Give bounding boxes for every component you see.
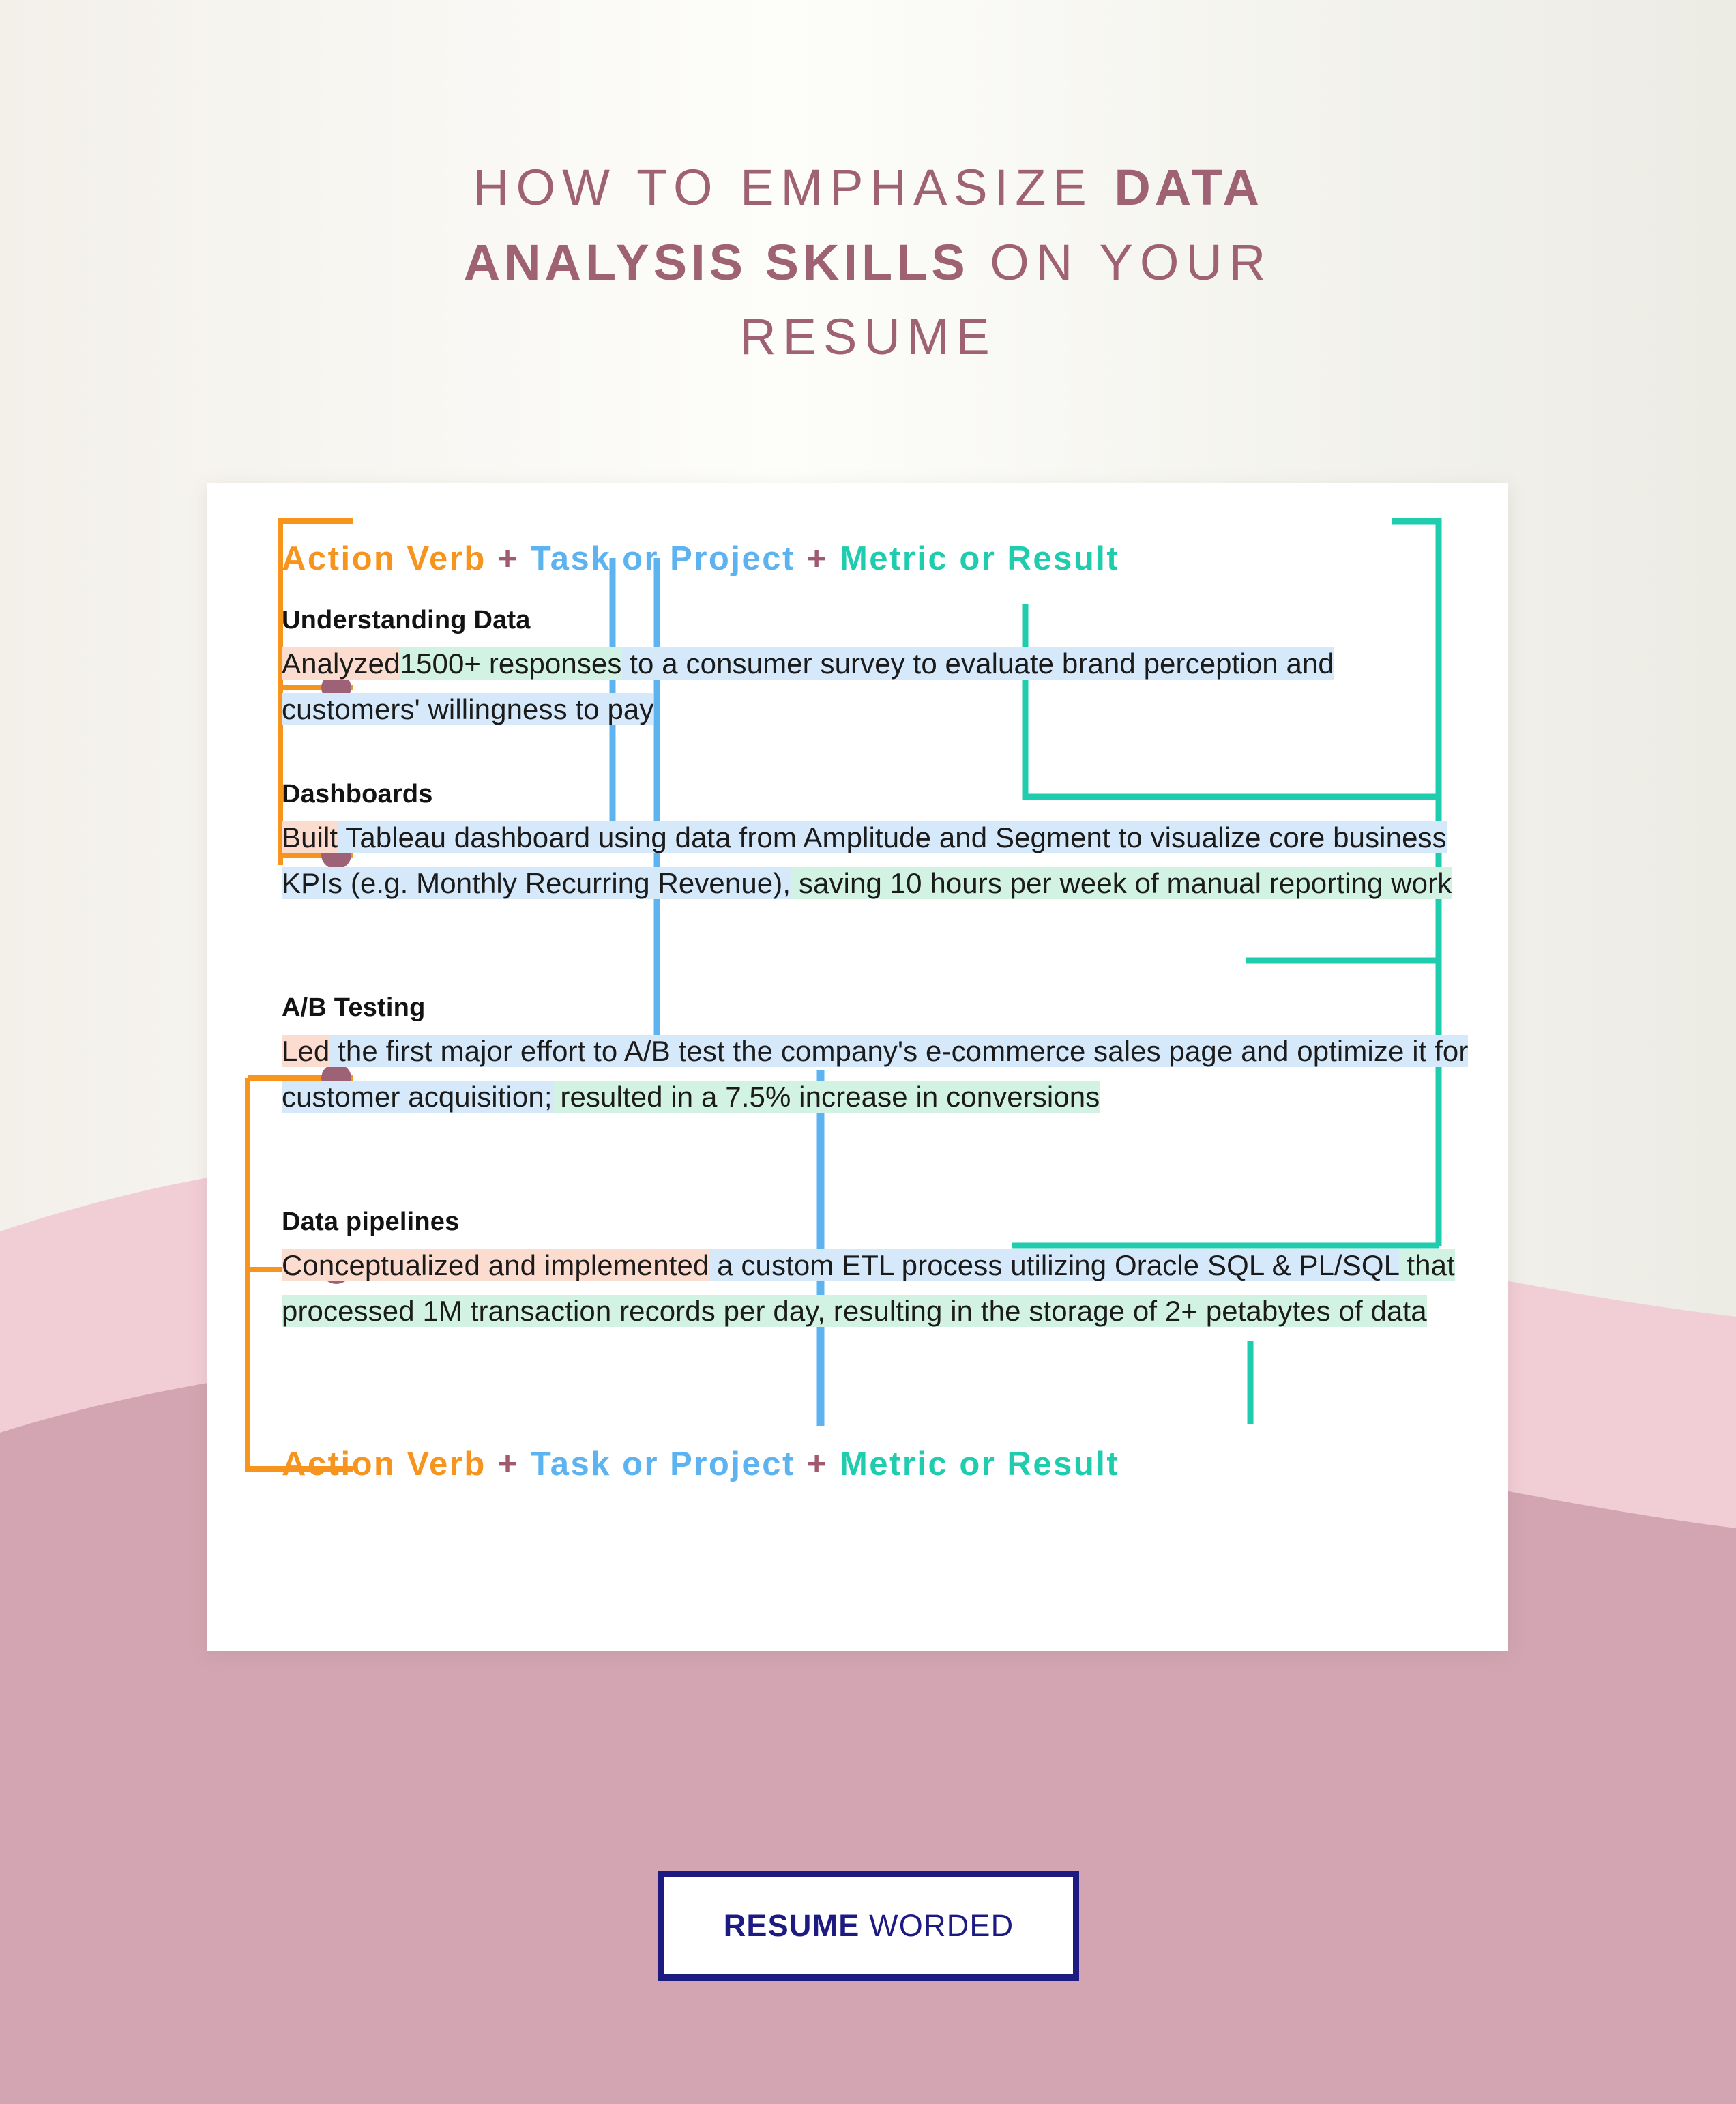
legend-bottom: Action Verb+Task or Project+Metric or Re… <box>282 1445 1119 1483</box>
resume-worded-logo[interactable]: RESUME WORDED <box>658 1871 1079 1981</box>
page-title: HOW TO EMPHASIZE DATA ANALYSIS SKILLS ON… <box>0 150 1736 375</box>
bullet-body: Conceptualized and implemented a custom … <box>282 1242 1469 1334</box>
bullet-body: Built Tableau dashboard using data from … <box>282 815 1469 906</box>
legend-plus-2: + <box>795 1446 840 1482</box>
highlight-action-verb: Built <box>282 821 338 853</box>
bullet-body: Led the first major effort to A/B test t… <box>282 1028 1469 1120</box>
logo-text-bold: RESUME <box>724 1908 860 1943</box>
bullet-heading: Data pipelines <box>282 1208 1469 1237</box>
resume-bullet-card: Action Verb+Task or Project+Metric or Re… <box>207 483 1508 1651</box>
highlight-task: a custom ETL process utilizing Oracle SQ… <box>709 1249 1398 1281</box>
bullet-dots <box>321 673 351 1284</box>
highlight-action-verb: Conceptualized and implemented <box>282 1249 709 1281</box>
bullet-block-understanding-data: Understanding Data Analyzed1500+ respons… <box>282 606 1469 732</box>
title-text-1: HOW TO EMPHASIZE <box>473 159 1114 216</box>
bullet-heading: A/B Testing <box>282 993 1469 1023</box>
bullet-heading: Dashboards <box>282 780 1469 809</box>
highlight-metric: resulted in a 7.5% increase in conversio… <box>553 1081 1100 1113</box>
bullet-block-ab-testing: A/B Testing Led the first major effort t… <box>282 993 1469 1120</box>
legend-metric-or-result: Metric or Result <box>840 540 1119 577</box>
logo-text-light: WORDED <box>859 1908 1014 1943</box>
title-line-3: RESUME <box>0 299 1736 375</box>
title-text-2-bold: ANALYSIS SKILLS <box>464 234 969 291</box>
highlight-metric: 1500+ responses <box>400 647 622 680</box>
logo-text: RESUME WORDED <box>724 1908 1014 1944</box>
title-line-1: HOW TO EMPHASIZE DATA <box>0 150 1736 225</box>
legend-task-or-project: Task or Project <box>531 1446 795 1482</box>
title-text-3: RESUME <box>739 308 997 365</box>
legend-action-verb: Action Verb <box>282 1446 486 1482</box>
bullet-block-dashboards: Dashboards Built Tableau dashboard using… <box>282 780 1469 906</box>
highlight-action-verb: Analyzed <box>282 647 400 680</box>
legend-plus-1: + <box>486 1446 531 1482</box>
title-line-2: ANALYSIS SKILLS ON YOUR <box>0 225 1736 300</box>
title-text-2: ON YOUR <box>969 234 1273 291</box>
title-text-1-bold: DATA <box>1114 159 1263 216</box>
legend-plus-1: + <box>486 540 531 577</box>
legend-top: Action Verb+Task or Project+Metric or Re… <box>282 540 1119 578</box>
legend-metric-or-result: Metric or Result <box>840 1446 1119 1482</box>
bullet-body: Analyzed1500+ responses to a consumer su… <box>282 641 1469 732</box>
legend-plus-2: + <box>795 540 840 577</box>
legend-task-or-project: Task or Project <box>531 540 795 577</box>
bullet-block-data-pipelines: Data pipelines Conceptualized and implem… <box>282 1208 1469 1334</box>
highlight-action-verb: Led <box>282 1035 329 1067</box>
legend-action-verb: Action Verb <box>282 540 486 577</box>
highlight-metric: saving 10 hours per week of manual repor… <box>791 867 1452 899</box>
bullet-heading: Understanding Data <box>282 606 1469 635</box>
